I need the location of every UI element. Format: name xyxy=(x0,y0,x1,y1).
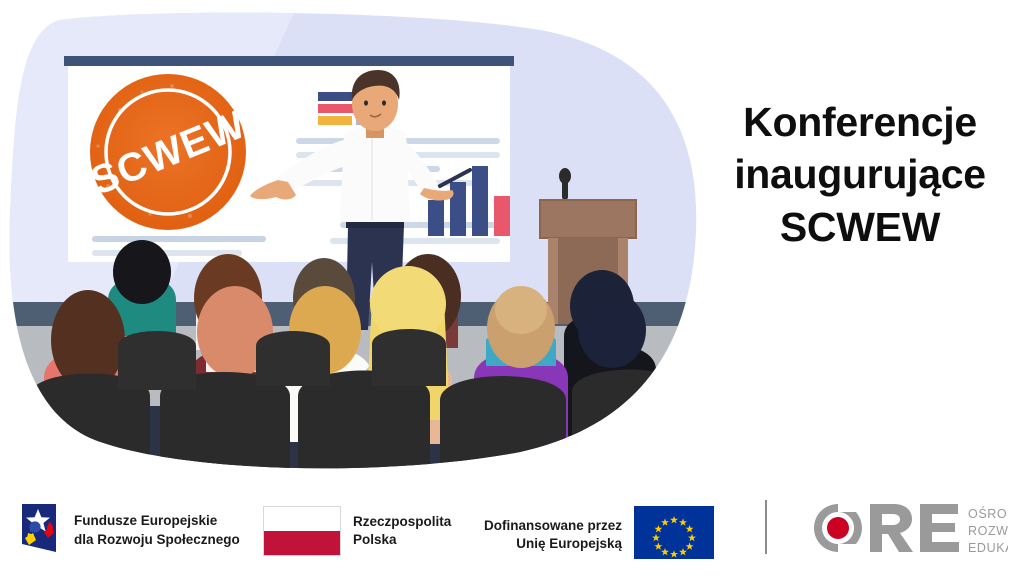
footer-logo-bar: Fundusze Europejskie dla Rozwoju Społecz… xyxy=(0,478,1024,576)
poster-canvas: SCWEW xyxy=(0,0,1024,576)
eu-line-1: Dofinansowane przez xyxy=(484,518,622,533)
audience-chairs-midrow xyxy=(118,329,446,390)
projection-screen: SCWEW xyxy=(64,56,514,262)
poland-flag xyxy=(263,506,341,556)
poland-flag-white-band xyxy=(264,507,340,531)
republic-line-1: Rzeczpospolita xyxy=(353,514,451,529)
footer-divider xyxy=(765,500,767,554)
title-line-3: SCWEW xyxy=(700,201,1020,253)
republic-of-poland-lockup: Rzeczpospolita Polska xyxy=(263,506,451,556)
ore-word-2: ROZWOJU xyxy=(968,524,1008,538)
european-funds-lockup: Fundusze Europejskie dla Rozwoju Społecz… xyxy=(14,502,240,559)
republic-line-2: Polska xyxy=(353,532,397,547)
title-line-2: inaugurujące xyxy=(700,148,1020,200)
european-union-lockup: Dofinansowane przez Unię Europejską xyxy=(484,506,714,564)
european-union-flag xyxy=(634,506,714,564)
poland-flag-red-band xyxy=(264,531,340,555)
screen-top-bar xyxy=(64,56,514,66)
european-funds-text: Fundusze Europejskie dla Rozwoju Społecz… xyxy=(74,512,240,548)
european-union-text: Dofinansowane przez Unię Europejską xyxy=(484,517,622,553)
conference-illustration: SCWEW xyxy=(0,0,712,478)
title-line-1: Konferencje xyxy=(700,96,1020,148)
european-funds-logo xyxy=(14,502,64,559)
eu-line-2: Unię Europejską xyxy=(516,536,622,551)
page-title: Konferencje inaugurujące SCWEW xyxy=(700,96,1020,253)
ore-lockup: OŚRODEK ROZWOJU EDUKACJI xyxy=(812,502,1008,559)
republic-of-poland-text: Rzeczpospolita Polska xyxy=(353,513,451,549)
ore-word-1: OŚRODEK xyxy=(968,506,1008,521)
european-funds-line-1: Fundusze Europejskie xyxy=(74,513,217,528)
ore-logo: OŚRODEK ROZWOJU EDUKACJI xyxy=(812,502,1008,559)
european-funds-line-2: dla Rozwoju Społecznego xyxy=(74,532,240,547)
ore-word-3: EDUKACJI xyxy=(968,541,1008,554)
